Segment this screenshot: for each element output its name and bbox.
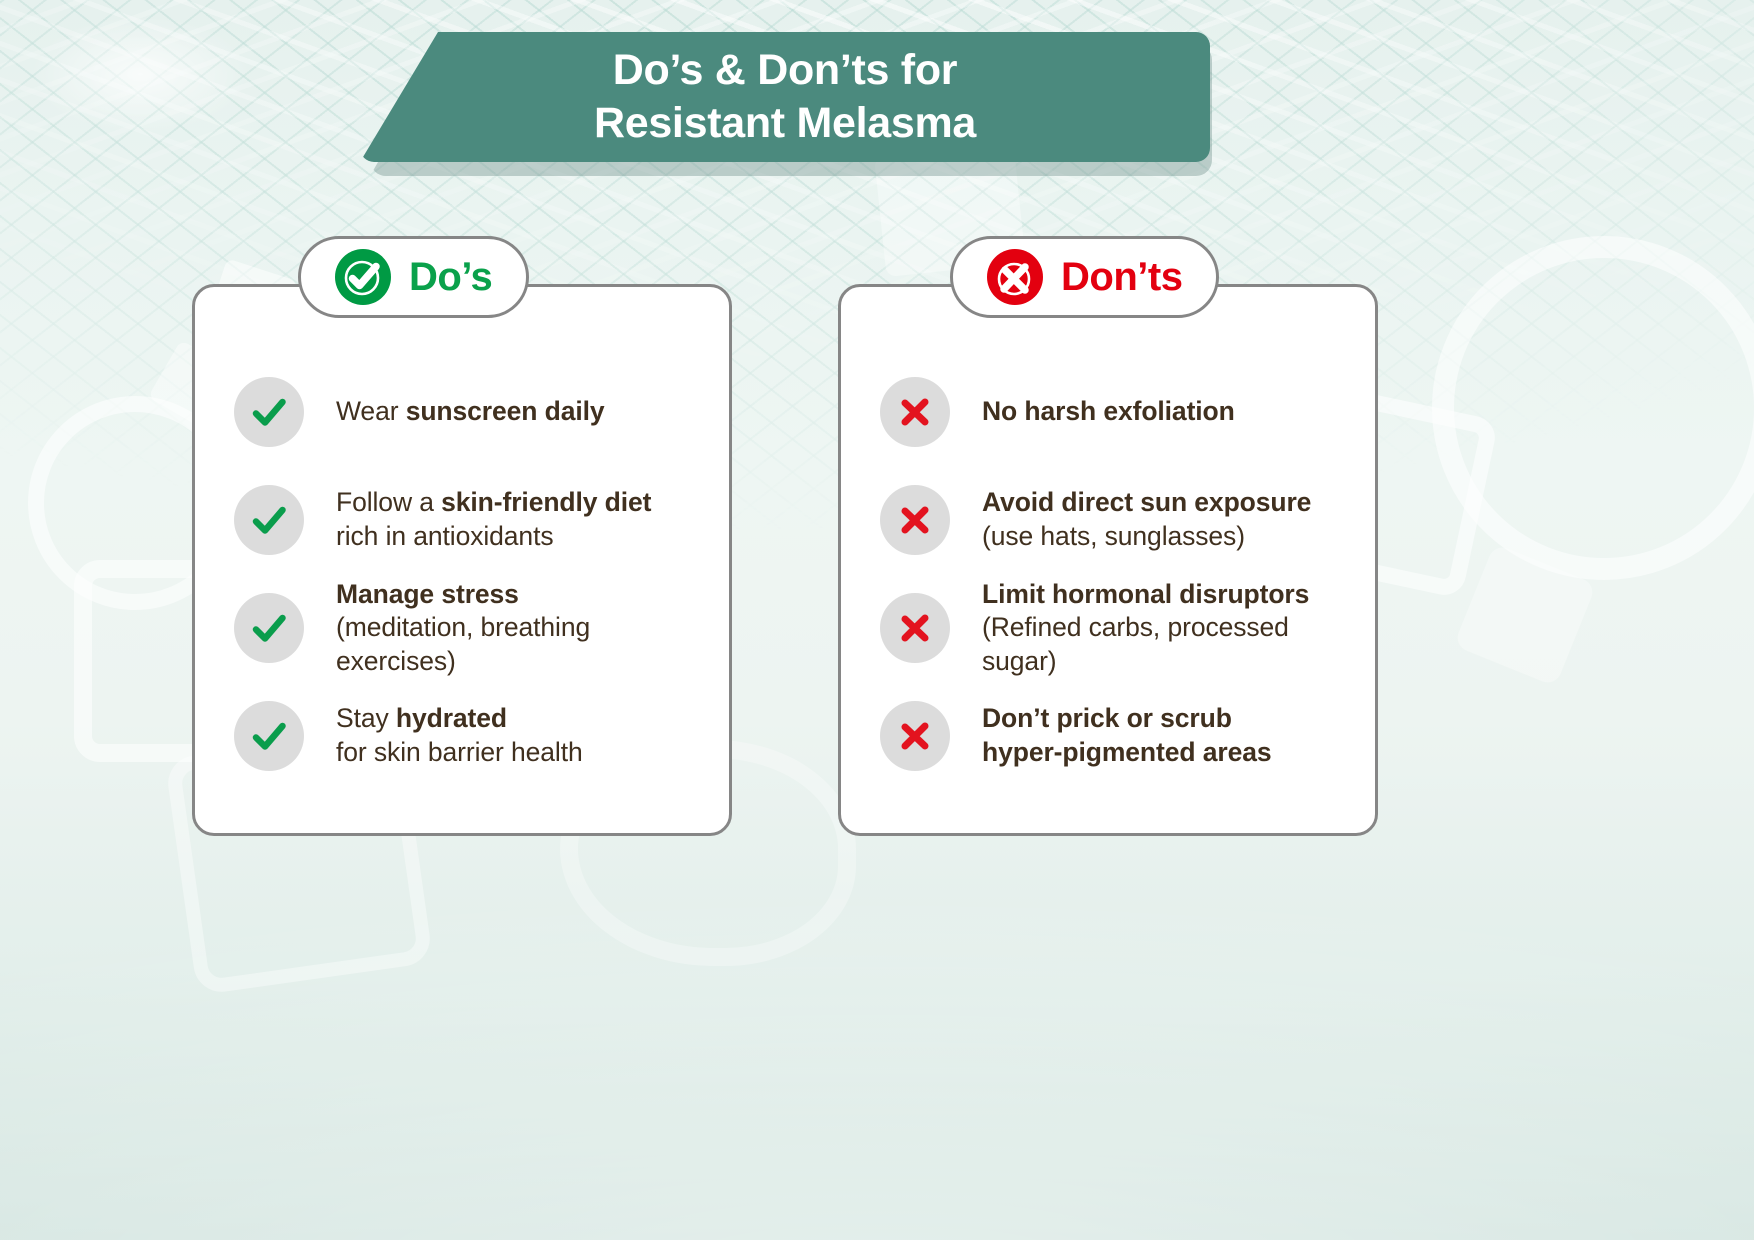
list-item: Avoid direct sun exposure(use hats, sung… [880, 466, 1352, 574]
check-circle-icon [335, 249, 391, 305]
dos-tab[interactable]: Do’s [298, 236, 529, 318]
list-item-line: hyper-pigmented areas [982, 736, 1272, 770]
decorative-tile-right [1453, 543, 1596, 686]
list-item-line: rich in antioxidants [336, 520, 651, 554]
x-icon-badge [880, 377, 950, 447]
donts-tab-label: Don’ts [1061, 255, 1182, 300]
list-item-text: Wear sunscreen daily [336, 395, 605, 429]
list-item-text: Don’t prick or scrubhyper-pigmented area… [982, 702, 1272, 769]
list-item-line: Follow a skin-friendly diet [336, 486, 651, 520]
check-icon-badge [234, 593, 304, 663]
x-icon [895, 500, 935, 540]
list-item-line: (meditation, breathing exercises) [336, 611, 706, 678]
check-icon [248, 715, 290, 757]
check-icon-badge [234, 701, 304, 771]
x-icon-badge [880, 701, 950, 771]
decorative-circle-right [1432, 236, 1754, 580]
check-icon [248, 499, 290, 541]
page-title-line-2: Resistant Melasma [594, 97, 976, 150]
list-item-text: Avoid direct sun exposure(use hats, sung… [982, 486, 1311, 553]
list-item: Wear sunscreen daily [234, 358, 706, 466]
list-item: Stay hydratedfor skin barrier health [234, 682, 706, 790]
list-item-line: Wear sunscreen daily [336, 395, 605, 429]
list-item-line: Don’t prick or scrub [982, 702, 1272, 736]
dos-tab-label: Do’s [409, 255, 492, 300]
list-item-text: Manage stress(meditation, breathing exer… [336, 578, 706, 679]
x-icon [895, 716, 935, 756]
dos-list: Wear sunscreen dailyFollow a skin-friend… [192, 358, 732, 790]
list-item-text: Stay hydratedfor skin barrier health [336, 702, 583, 769]
list-item-line: for skin barrier health [336, 736, 583, 770]
list-item-text: No harsh exfoliation [982, 395, 1235, 429]
list-item-line: (use hats, sunglasses) [982, 520, 1311, 554]
list-item: No harsh exfoliation [880, 358, 1352, 466]
x-icon [895, 392, 935, 432]
list-item-line: (Refined carbs, processed sugar) [982, 611, 1352, 678]
check-icon-badge [234, 377, 304, 447]
list-item-line: Manage stress [336, 578, 706, 612]
list-item-text: Limit hormonal disruptors(Refined carbs,… [982, 578, 1352, 679]
donts-tab[interactable]: Don’ts [950, 236, 1219, 318]
title-banner-body: Do’s & Don’ts for Resistant Melasma [360, 32, 1210, 162]
title-banner: Do’s & Don’ts for Resistant Melasma [360, 32, 1212, 170]
page-title-line-1: Do’s & Don’ts for [613, 44, 957, 97]
dos-column: Do’s Wear sunscreen dailyFollow a skin-f… [192, 284, 732, 836]
list-item: Limit hormonal disruptors(Refined carbs,… [880, 574, 1352, 682]
check-icon [248, 607, 290, 649]
list-item-text: Follow a skin-friendly dietrich in antio… [336, 486, 651, 553]
x-icon-badge [880, 593, 950, 663]
x-icon [895, 608, 935, 648]
list-item: Don’t prick or scrubhyper-pigmented area… [880, 682, 1352, 790]
list-item-line: No harsh exfoliation [982, 395, 1235, 429]
check-icon [248, 391, 290, 433]
list-item-line: Avoid direct sun exposure [982, 486, 1311, 520]
donts-list: No harsh exfoliationAvoid direct sun exp… [838, 358, 1378, 790]
x-circle-icon [987, 249, 1043, 305]
list-item: Manage stress(meditation, breathing exer… [234, 574, 706, 682]
check-icon-badge [234, 485, 304, 555]
list-item: Follow a skin-friendly dietrich in antio… [234, 466, 706, 574]
donts-column: Don’ts No harsh exfoliationAvoid direct … [838, 284, 1378, 836]
list-item-line: Limit hormonal disruptors [982, 578, 1352, 612]
list-item-line: Stay hydrated [336, 702, 583, 736]
x-icon-badge [880, 485, 950, 555]
infographic-canvas: Do’s & Don’ts for Resistant Melasma Do’s… [0, 0, 1754, 1240]
